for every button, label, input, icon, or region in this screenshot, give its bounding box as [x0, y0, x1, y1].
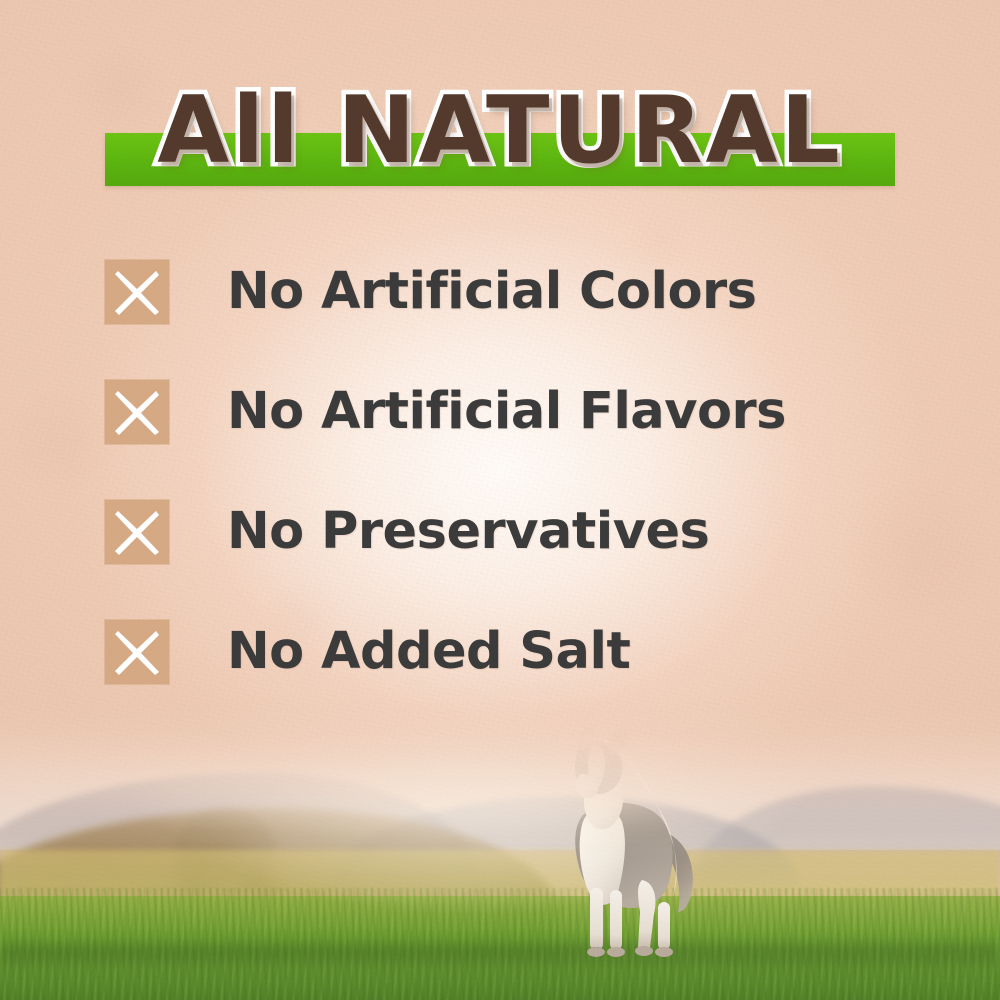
x-mark-icon [105, 260, 169, 324]
feature-row: No Artificial Colors [105, 258, 935, 326]
feature-row: No Preservatives [105, 498, 935, 566]
headline-banner: All NATURAL [0, 74, 1000, 204]
feature-label: No Artificial Colors [227, 263, 756, 321]
landscape-photo [0, 700, 1000, 1000]
feature-row: No Added Salt [105, 618, 935, 686]
feature-label: No Added Salt [227, 623, 630, 681]
headline-text: All NATURAL [0, 74, 1000, 186]
x-mark-icon [105, 500, 169, 564]
x-mark-icon [105, 620, 169, 684]
meadow-shadow [0, 936, 1000, 970]
feature-label: No Artificial Flavors [227, 383, 786, 441]
feature-label: No Preservatives [227, 503, 709, 561]
x-mark-icon [105, 380, 169, 444]
feature-list: No Artificial Colors No Artificial Flavo… [105, 258, 935, 738]
feature-row: No Artificial Flavors [105, 378, 935, 446]
product-feature-panel: All NATURAL No Artificial Colors No Arti… [0, 0, 1000, 1000]
border-collie-dog [520, 712, 730, 962]
